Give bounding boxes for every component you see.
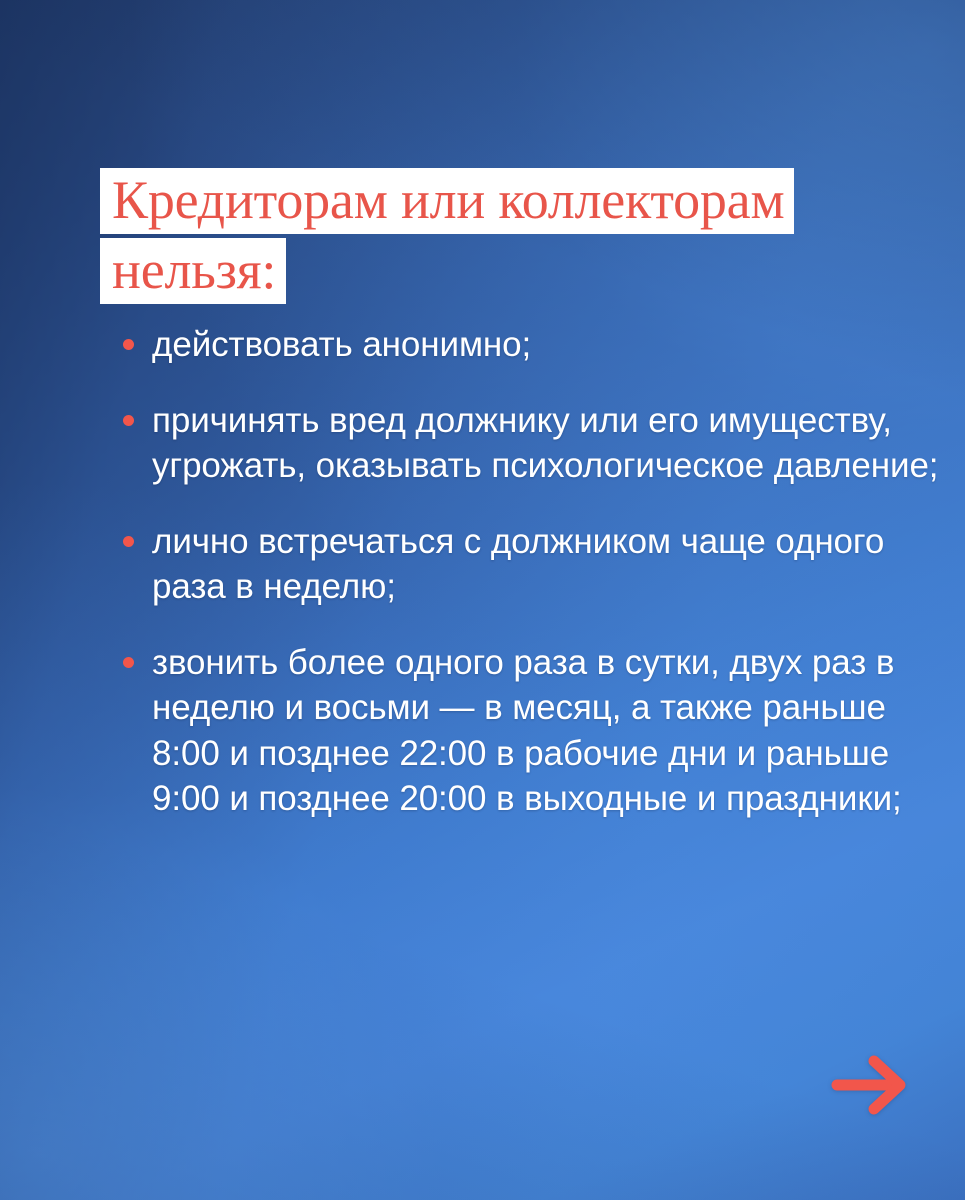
arrow-right-icon[interactable] [830,1052,912,1118]
bullet-dot-icon [123,415,134,426]
list-item-label: звонить более одного раза в сутки, двух … [152,640,948,822]
slide-root: Кредиторам или коллекторам нельзя: дейст… [0,0,965,1200]
slide-content: Кредиторам или коллекторам нельзя: дейст… [0,0,965,1200]
list-item: действовать анонимно; [118,322,948,368]
page-title-line-2: нельзя: [100,238,286,304]
list-item: лично встречаться с должником чаще одног… [118,519,948,610]
bullet-dot-icon [123,339,134,350]
list-item: звонить более одного раза в сутки, двух … [118,640,948,822]
list-item-label: лично встречаться с должником чаще одног… [152,519,948,610]
list-item-label: действовать анонимно; [152,322,948,368]
bullet-dot-icon [123,657,134,668]
page-title-line-1: Кредиторам или коллекторам [100,168,794,234]
prohibitions-list: действовать анонимно; причинять вред дол… [118,322,948,822]
list-item-label: причинять вред должнику или его имуществ… [152,398,948,489]
page-title: Кредиторам или коллекторам нельзя: [100,168,920,304]
list-item: причинять вред должнику или его имуществ… [118,398,948,489]
next-slide-button[interactable] [830,1052,912,1118]
bullet-dot-icon [123,536,134,547]
